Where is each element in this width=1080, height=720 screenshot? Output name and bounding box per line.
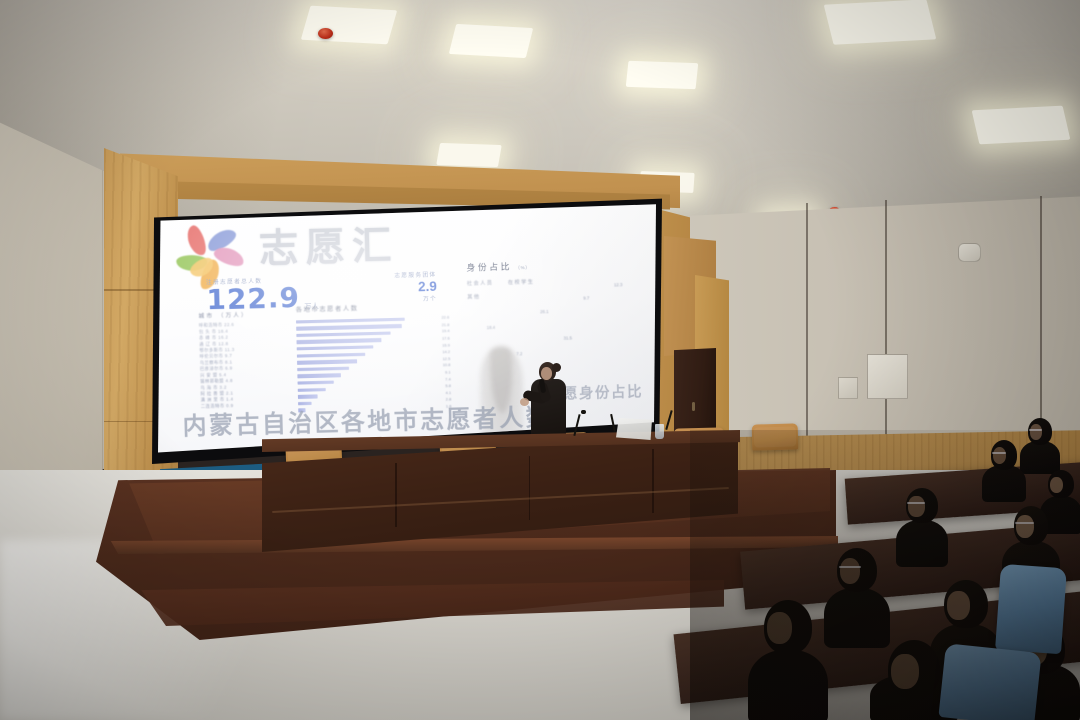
ranking-list-header: 城市 （万人）: [198, 309, 279, 319]
panel-light-2: [449, 24, 533, 58]
audience-person-glasses-icon: [839, 566, 861, 568]
bar-chart: 各地市志愿者人数 22.621.819.417.615.914.212.510.…: [296, 301, 452, 414]
panel-light-4: [626, 61, 698, 89]
door-handle-icon[interactable]: [692, 402, 695, 411]
audience-person-face: [947, 591, 969, 620]
presenter-body: [531, 379, 566, 437]
conference-hall-scene: 志愿汇 注册志愿者总人数 122.9 万人 志愿服务团体 2.9 万个 城市 （…: [0, 0, 1080, 720]
panel-light-1: [301, 6, 397, 45]
bar-chart-bar: [298, 388, 326, 392]
audience-person-6: [824, 548, 890, 644]
bar-chart-value-label: 10.8: [439, 364, 451, 368]
audience-person-body: [982, 465, 1026, 502]
bar-chart-value-label: 7.4: [441, 377, 451, 381]
presenter-hand: [520, 398, 529, 406]
smoke-detector-left: [318, 28, 333, 39]
bar-chart-value-label: 4.1: [441, 391, 451, 395]
wall-small-panel: [838, 377, 858, 399]
audience-person-face: [1016, 515, 1034, 538]
wall-access-panel: [867, 354, 908, 399]
audience-person-1: [1020, 418, 1060, 472]
bar-chart-value-label: 21.8: [438, 323, 450, 327]
audience-person-glasses-icon: [992, 452, 1007, 454]
bar-chart-value-label: 5.8: [441, 384, 451, 388]
audience-chair-blue-1[interactable]: [995, 564, 1067, 654]
wall-seam-1: [806, 203, 808, 443]
audience-person-glasses-icon: [1015, 522, 1034, 524]
identity-panel: 身份占比（%） 社会人员 在校学生 其他 18.4 26.1 9.7 12.3 …: [466, 257, 653, 301]
identity-legend-2: 其他: [467, 289, 653, 301]
bar-chart-value-label: 14.2: [438, 350, 450, 354]
audience-person-face: [767, 612, 792, 644]
bar-chart-bar: [297, 366, 349, 371]
identity-legend-0: 社会人员: [467, 280, 494, 287]
presenter-laptop[interactable]: [616, 418, 652, 440]
audience-person-2: [982, 440, 1026, 500]
wall-seam-2: [885, 200, 887, 446]
projection-screen[interactable]: 志愿汇 注册志愿者总人数 122.9 万人 志愿服务团体 2.9 万个 城市 （…: [158, 203, 656, 455]
bar-chart-bar: [298, 395, 318, 399]
wall-mounted-speaker: [958, 243, 981, 262]
bar-chart-bar: [297, 373, 341, 378]
bar-chart-value-label: 9.1: [441, 370, 451, 374]
audience-chair-blue-2[interactable]: [938, 643, 1041, 720]
bar-chart-value-label: 22.6: [437, 316, 449, 320]
audience-person-face: [1050, 477, 1063, 494]
identity-title-unit: （%）: [515, 265, 530, 271]
presenter: [527, 362, 571, 438]
slide-side-caption: 愿身份占比: [563, 381, 644, 404]
secondary-stat-value: 2.9: [394, 279, 437, 296]
head-chair-5[interactable]: [752, 423, 799, 450]
wall-seam-3: [1040, 196, 1042, 446]
audience-person-8: [748, 600, 828, 720]
identity-panel-title: 身份占比（%）: [466, 257, 653, 274]
bar-chart-value-label: 12.5: [438, 357, 450, 361]
audience-person-body: [896, 520, 948, 567]
audience-person-face: [1030, 424, 1042, 440]
identity-legend-1: 在校学生: [508, 279, 535, 286]
audience-person-face: [891, 654, 918, 689]
presenter-face: [541, 367, 552, 380]
identity-title-text: 身份占比: [466, 261, 512, 272]
presenter-hair-bun: [552, 363, 561, 372]
bar-chart-value-label: 17.6: [438, 336, 450, 340]
audience-person-body: [748, 650, 828, 720]
audience-person-glasses-icon: [1029, 429, 1042, 431]
bar-chart-value-label: 15.9: [438, 343, 450, 347]
bar-chart-bar: [297, 359, 357, 364]
audience-person-face: [908, 496, 924, 517]
panel-light-6: [436, 143, 501, 167]
water-glass: [655, 424, 664, 439]
bar-chart-bar: [298, 380, 334, 384]
audience-person-4: [896, 488, 948, 564]
secondary-stat: 志愿服务团体 2.9 万个: [394, 270, 437, 303]
desk-mic-1-head: [581, 410, 586, 414]
panel-light-3: [824, 0, 937, 45]
identity-legend: 社会人员 在校学生: [467, 275, 653, 287]
brand-wordmark: 志愿汇: [258, 213, 399, 273]
ranking-list: 城市 （万人） 呼和浩特市 22.6包 头 市 18.4赤 峰 市 16.2通 …: [198, 309, 281, 409]
bar-chart-value-label: 19.4: [438, 329, 450, 333]
brand-logo-icon: [171, 221, 247, 275]
panel-light-5: [972, 106, 1071, 145]
audience-person-body: [824, 588, 890, 648]
